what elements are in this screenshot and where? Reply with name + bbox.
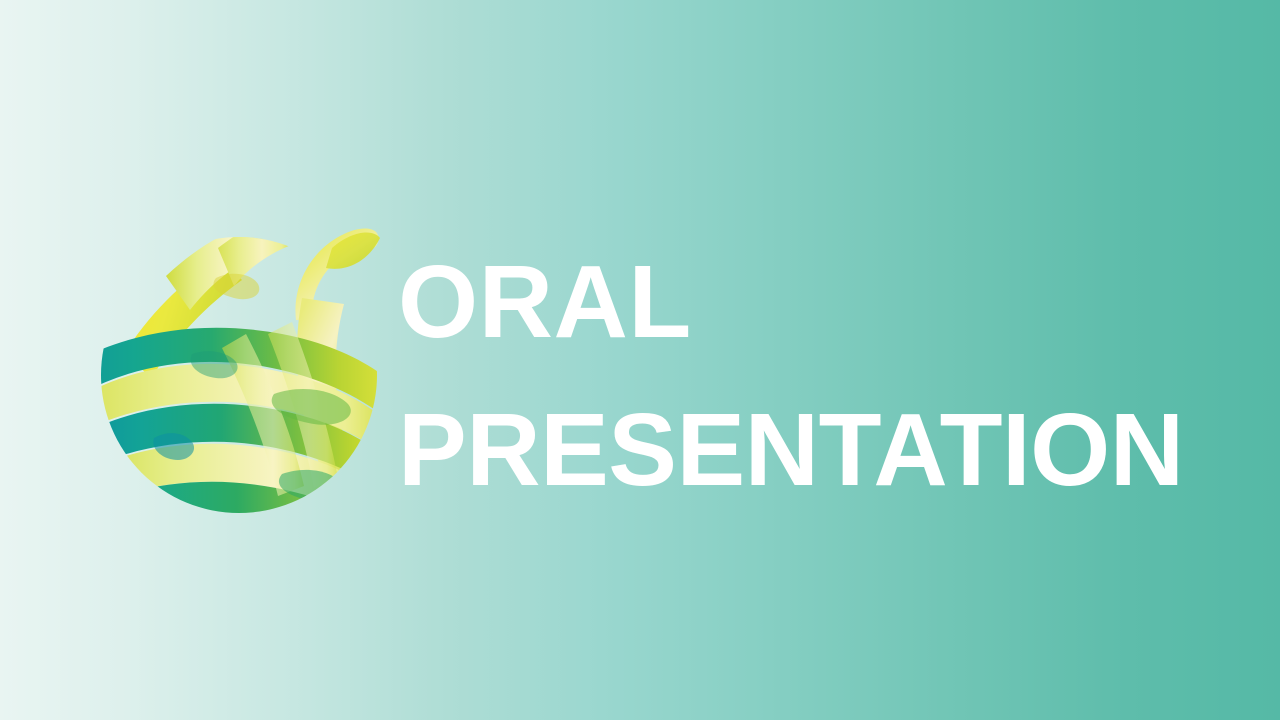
slide-title-line-1: ORAL [398, 228, 1218, 376]
globe-ribbon-logo [96, 202, 382, 520]
slide-title-block: ORAL PRESENTATION [398, 228, 1218, 524]
slide-title-line-2: PRESENTATION [398, 376, 1218, 524]
presentation-slide: ORAL PRESENTATION [0, 0, 1280, 720]
